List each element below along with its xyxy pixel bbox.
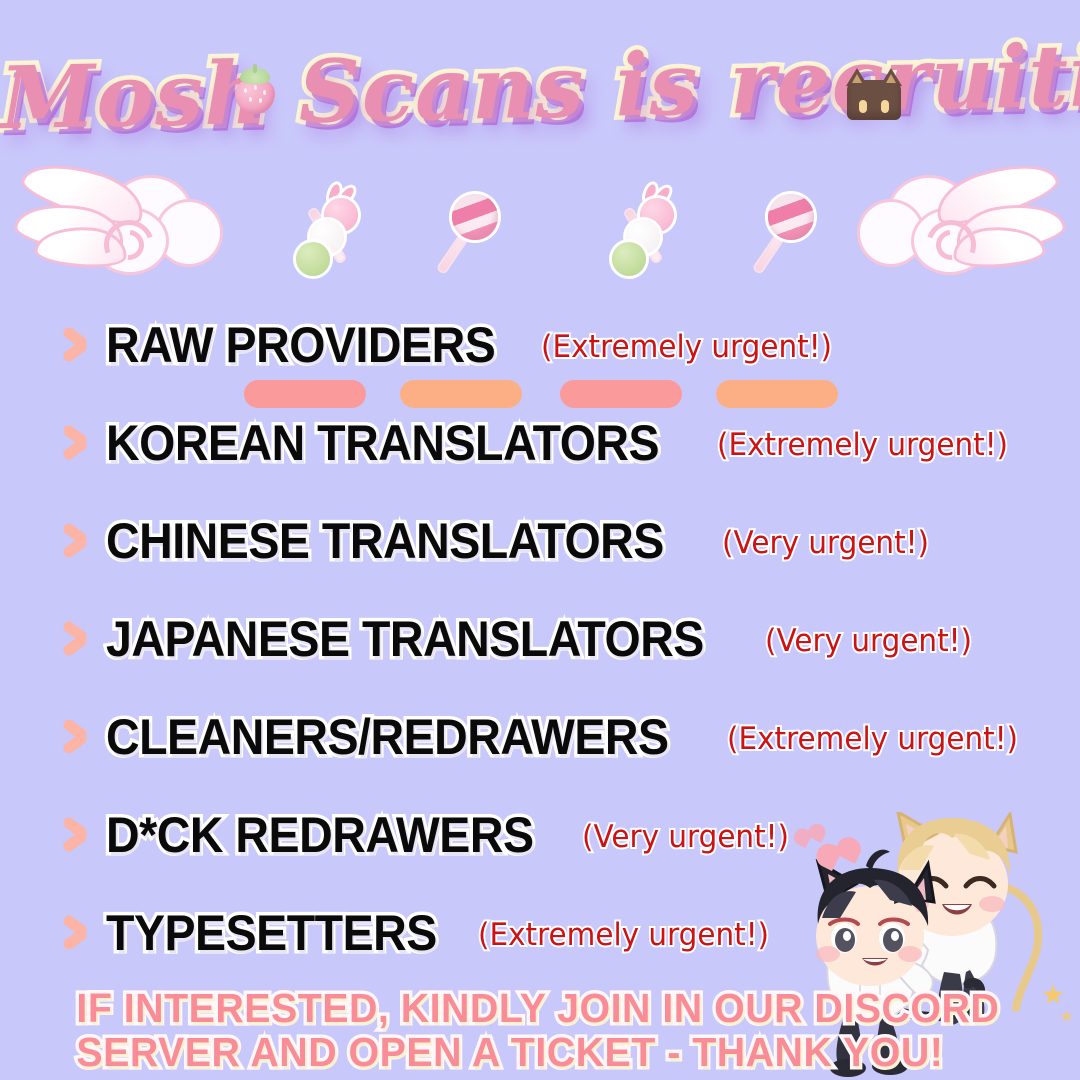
urgency-badge: (Very urgent!)	[582, 820, 789, 854]
chevron-right-icon	[58, 325, 92, 365]
chevron-right-icon	[58, 717, 92, 757]
winged-cloud-icon	[8, 162, 218, 282]
chevron-right-icon	[58, 815, 92, 855]
chevron-right-icon	[58, 619, 92, 659]
pixel-cat-icon	[841, 68, 907, 120]
footer-line-2: SERVER AND OPEN A TICKET - THANK YOU!	[76, 1030, 863, 1074]
recruitment-poster: Mosh Scans is recruiting!	[0, 0, 1080, 1080]
footer-line-1: IF INTERESTED, KINDLY JOIN IN OUR DISCOR…	[76, 986, 863, 1030]
page-title: Mosh Scans is recruiting!	[0, 17, 1080, 160]
chevron-right-icon	[58, 423, 92, 463]
urgency-badge: (Extremely urgent!)	[478, 918, 769, 952]
role-title: JAPANESE TRANSLATORS	[106, 611, 704, 667]
urgency-badge: (Very urgent!)	[722, 526, 929, 560]
urgency-badge: (Extremely urgent!)	[727, 722, 1018, 756]
list-item: CHINESE TRANSLATORS (Very urgent!)	[0, 492, 1080, 590]
title-band: Mosh Scans is recruiting!	[0, 28, 1080, 158]
chevron-right-icon	[58, 521, 92, 561]
strawberry-icon	[232, 64, 278, 114]
role-title: CLEANERS/REDRAWERS	[106, 709, 669, 765]
list-item: JAPANESE TRANSLATORS (Very urgent!)	[0, 590, 1080, 688]
urgency-badge: (Extremely urgent!)	[541, 330, 832, 364]
urgency-badge: (Very urgent!)	[765, 624, 972, 658]
decorative-divider	[0, 162, 1080, 290]
list-item: CLEANERS/REDRAWERS (Extremely urgent!)	[0, 688, 1080, 786]
role-title: RAW PROVIDERS	[106, 317, 495, 373]
lollipop-icon	[736, 188, 826, 292]
dango-skewer-icon	[288, 186, 368, 290]
role-title: KOREAN TRANSLATORS	[106, 415, 659, 471]
lollipop-icon	[420, 188, 510, 292]
urgency-badge: (Extremely urgent!)	[717, 428, 1008, 462]
list-item: RAW PROVIDERS (Extremely urgent!)	[0, 296, 1080, 394]
footer-note: IF INTERESTED, KINDLY JOIN IN OUR DISCOR…	[60, 986, 880, 1074]
role-title: D*CK REDRAWERS	[106, 807, 534, 863]
list-item: KOREAN TRANSLATORS (Extremely urgent!)	[0, 394, 1080, 492]
dango-skewer-icon	[604, 186, 684, 290]
role-title: TYPESETTERS	[106, 905, 437, 961]
chevron-right-icon	[58, 913, 92, 953]
role-title: CHINESE TRANSLATORS	[106, 513, 664, 569]
winged-cloud-icon	[862, 162, 1072, 282]
